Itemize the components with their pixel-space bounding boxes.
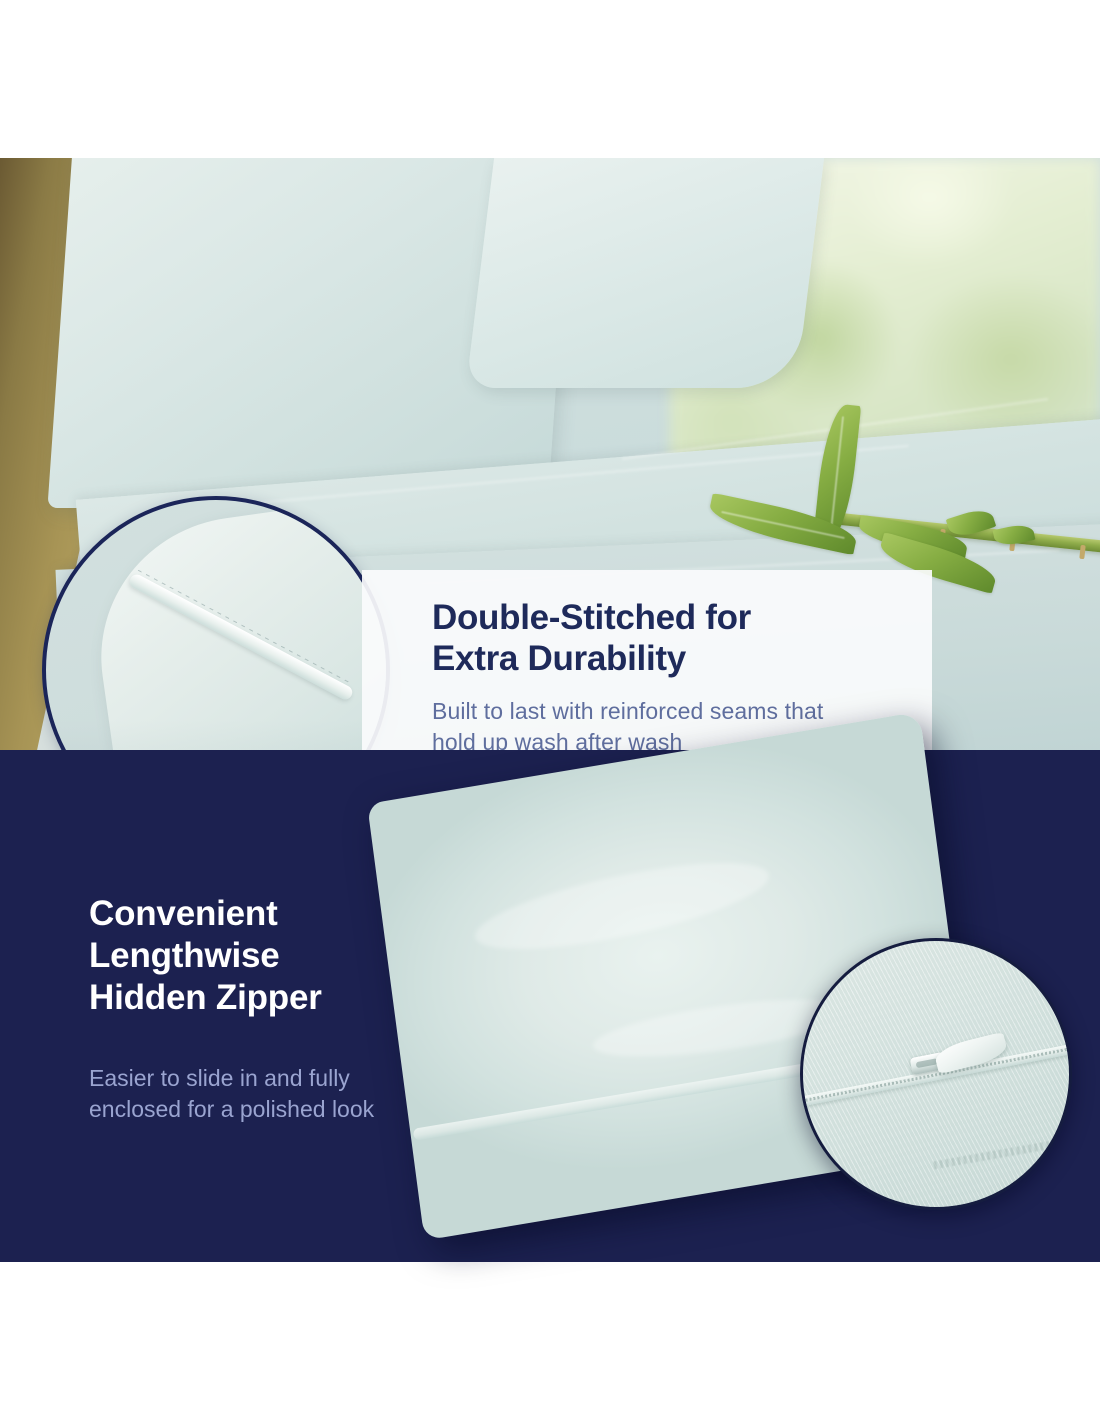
top-headline-line-2: Extra Durability [432, 639, 932, 680]
bamboo-node-3 [1079, 545, 1085, 559]
pillow-back [466, 158, 824, 388]
hidden-zipper-closeup-circle [800, 938, 1072, 1210]
bottom-subtitle-line-2: enclosed for a polished look [89, 1094, 489, 1125]
top-headline: Double-Stitched for Extra Durability [432, 598, 932, 679]
bamboo-sprig [690, 396, 1100, 596]
top-headline-line-1: Double-Stitched for [432, 598, 932, 639]
bottom-subtitle: Easier to slide in and fully enclosed fo… [89, 1063, 489, 1124]
top-feature-panel: Double-Stitched for Extra Durability Bui… [0, 158, 1100, 750]
bottom-subtitle-line-1: Easier to slide in and fully [89, 1063, 489, 1094]
closeup-shadow [46, 720, 390, 750]
bottom-headline-line-3: Hidden Zipper [89, 977, 509, 1019]
bottom-headline-line-2: Lengthwise [89, 935, 509, 977]
bottom-headline: Convenient Lengthwise Hidden Zipper [89, 893, 509, 1019]
bottom-headline-line-1: Convenient [89, 893, 509, 935]
